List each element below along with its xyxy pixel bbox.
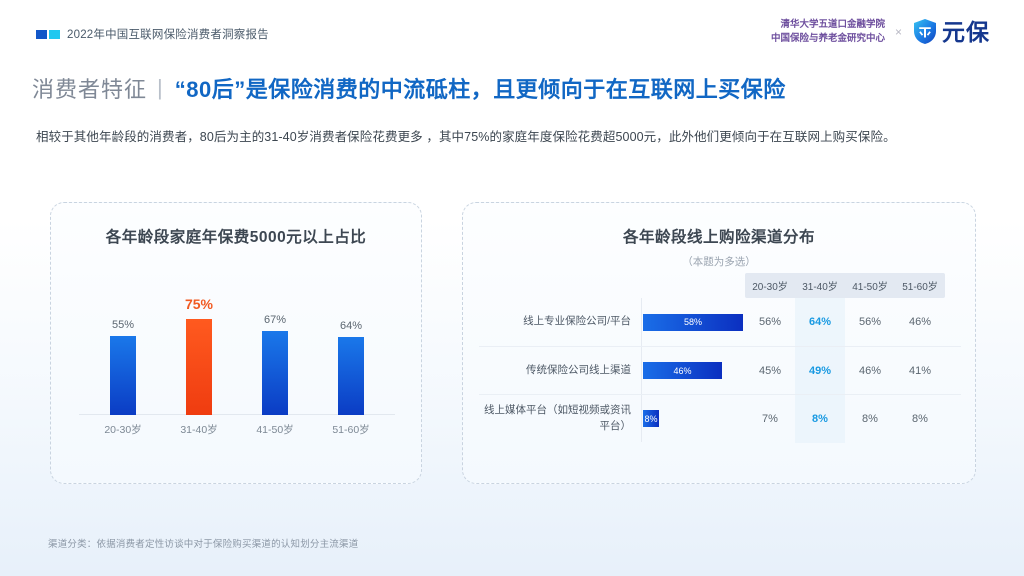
x-axis-label: 31-40岁 [161, 422, 237, 437]
row-bar-cell: 8% [641, 395, 745, 442]
row-bar-cell: 58% [641, 298, 745, 346]
table-cell: 8% [895, 413, 945, 425]
bar-chart-x-axis: 20-30岁 31-40岁 41-50岁 51-60岁 [85, 419, 389, 439]
row-values: 7% 8% 8% 8% [745, 413, 945, 425]
table-cell-highlighted: 64% [795, 316, 845, 328]
university-line-1: 清华大学五道口金融学院 [771, 18, 885, 32]
bar-chart-plot: 55% 75% 67% 64% [85, 271, 389, 415]
table-cell: 7% [745, 413, 795, 425]
table-column-header: 51-60岁 [895, 278, 945, 293]
bar-value-label: 64% [340, 320, 362, 332]
page-header: 2022年中国互联网保险消费者洞察报告 清华大学五道口金融学院 中国保险与养老金… [0, 0, 1024, 62]
title-kicker: 消费者特征 [32, 72, 147, 104]
row-bar: 58% [643, 314, 743, 331]
x-axis-label: 51-60岁 [313, 422, 389, 437]
table-cell: 46% [895, 316, 945, 328]
table-cell: 56% [745, 316, 795, 328]
table-row: 传统保险公司线上渠道 46% 45% 49% 46% 41% [479, 346, 961, 394]
row-values: 45% 49% 46% 41% [745, 365, 945, 377]
footnote: 渠道分类：依据消费者定性访谈中对于保险购买渠道的认知划分主流渠道 [48, 536, 358, 550]
table-cell: 45% [745, 365, 795, 377]
row-label: 传统保险公司线上渠道 [479, 363, 641, 379]
table-body: 线上专业保险公司/平台 58% 56% 64% 56% 46% 传统保险公司线上… [479, 298, 961, 442]
table-column-header: 20-30岁 [745, 278, 795, 293]
square-dark-blue-icon [36, 30, 47, 39]
table-column-header: 41-50岁 [845, 278, 895, 293]
row-bar: 46% [643, 362, 722, 379]
bar [262, 331, 288, 415]
row-label: 线上专业保险公司/平台 [479, 314, 641, 330]
title-separator: | [157, 75, 163, 101]
bar-chart-title: 各年龄段家庭年保费5000元以上占比 [51, 225, 421, 247]
table-cell: 46% [845, 365, 895, 377]
table-cell: 56% [845, 316, 895, 328]
brand-name: 元保 [942, 19, 990, 45]
square-cyan-icon [49, 30, 60, 39]
table-cell: 41% [895, 365, 945, 377]
university-line-2: 中国保险与养老金研究中心 [771, 32, 885, 46]
bar-column-highlighted: 75% [161, 271, 237, 415]
table-row: 线上媒体平台（如短视频或资讯平台） 8% 7% 8% 8% 8% [479, 394, 961, 442]
table-cell-highlighted: 49% [795, 365, 845, 377]
row-values: 56% 64% 56% 46% [745, 316, 945, 328]
bar-value-label: 67% [264, 314, 286, 326]
title-main: “80后”是保险消费的中流砥柱，且更倾向于在互联网上买保险 [175, 72, 786, 104]
bar-column: 55% [85, 271, 161, 415]
table-column-header: 31-40岁 [795, 278, 845, 293]
bar-value-label: 55% [112, 319, 134, 331]
bar [186, 319, 212, 415]
lead-paragraph: 相较于其他年龄段的消费者，80后为主的31-40岁消费者保险花费更多 ，其中75… [36, 128, 996, 147]
table-cell-highlighted: 8% [795, 413, 845, 425]
x-axis-label: 20-30岁 [85, 422, 161, 437]
row-label: 线上媒体平台（如短视频或资讯平台） [479, 403, 641, 435]
brand-logo: 元保 [912, 18, 990, 45]
x-axis-label: 41-50岁 [237, 422, 313, 437]
bar-column: 64% [313, 271, 389, 415]
report-brand-line: 2022年中国互联网保险消费者洞察报告 [36, 26, 269, 42]
channel-table-subtitle: （本题为多选） [463, 254, 975, 269]
brand-bullet-icons [36, 30, 60, 39]
channel-table-card: 各年龄段线上购险渠道分布 （本题为多选） 20-30岁 31-40岁 41-50… [462, 202, 976, 484]
channel-table-title: 各年龄段线上购险渠道分布 [463, 225, 975, 247]
bar-chart-card: 各年龄段家庭年保费5000元以上占比 55% 75% 67% 64% 20-30… [50, 202, 422, 484]
page-title: 消费者特征 | “80后”是保险消费的中流砥柱，且更倾向于在互联网上买保险 [0, 66, 1024, 110]
cross-separator-icon: × [895, 25, 902, 39]
row-bar-cell: 46% [641, 347, 745, 394]
table-cell: 8% [845, 413, 895, 425]
partner-logos: 清华大学五道口金融学院 中国保险与养老金研究中心 × 元保 [771, 18, 990, 46]
bar [338, 337, 364, 415]
yuanbao-shield-icon [912, 18, 938, 45]
table-header-row: 20-30岁 31-40岁 41-50岁 51-60岁 [745, 273, 945, 298]
university-name: 清华大学五道口金融学院 中国保险与养老金研究中心 [771, 18, 885, 46]
bar-column: 67% [237, 271, 313, 415]
row-bar: 8% [643, 410, 659, 427]
report-label: 2022年中国互联网保险消费者洞察报告 [67, 26, 269, 42]
bar [110, 336, 136, 415]
bar-value-label: 75% [185, 296, 213, 312]
bar-chart: 55% 75% 67% 64% 20-30岁 31-40岁 41-50岁 51-… [71, 265, 403, 445]
table-row: 线上专业保险公司/平台 58% 56% 64% 56% 46% [479, 298, 961, 346]
